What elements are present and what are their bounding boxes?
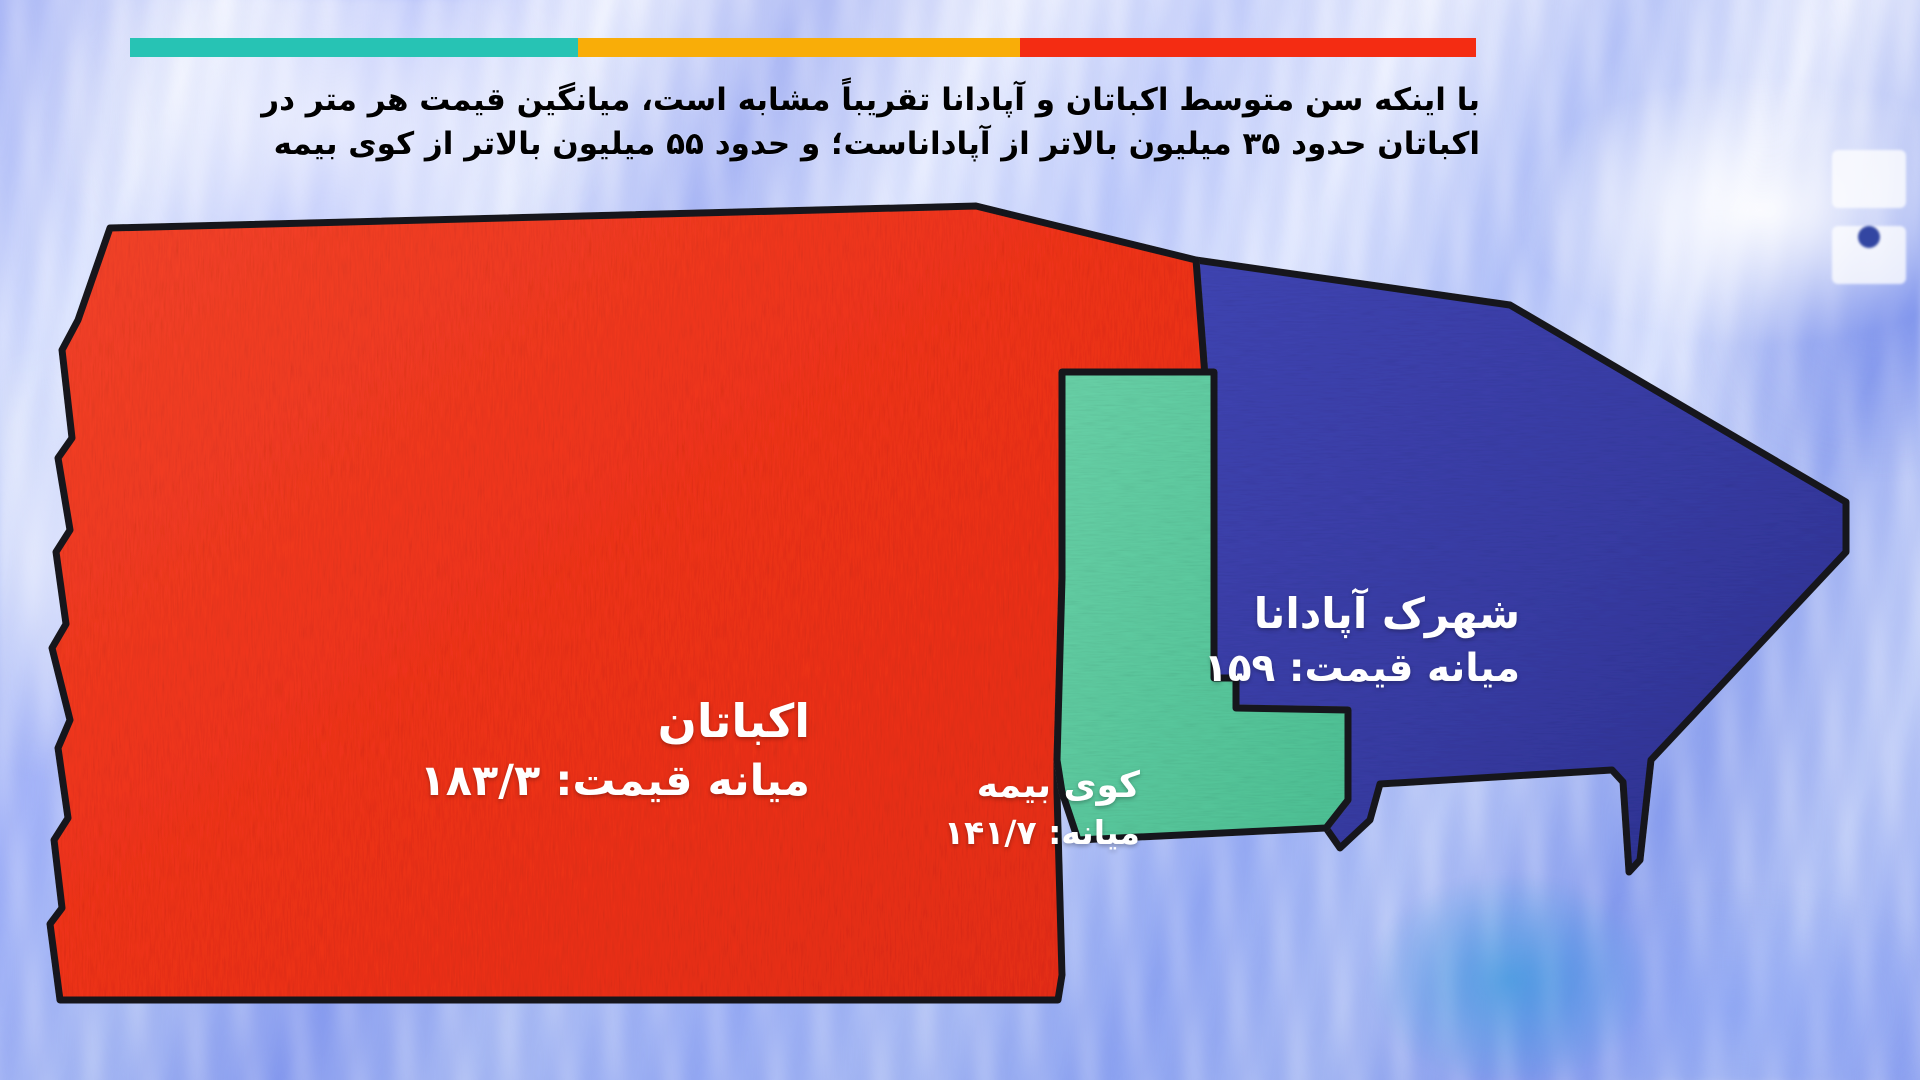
region-name-apadana: شهرک آپادانا [1204,590,1520,639]
region-label-ekbatan: اکباتان میانه قیمت: ۱۸۳/۳ [420,695,810,808]
region-value-apadana: میانه قیمت: ۱۵۹ [1204,646,1520,693]
region-name-ekbatan: اکباتان [420,695,810,748]
map-svg [0,200,1920,1080]
accent-segment-amber [578,38,1019,57]
choropleth-map: اکباتان میانه قیمت: ۱۸۳/۳ کوی بیمه میانه… [0,200,1920,1080]
region-label-apadana: شهرک آپادانا میانه قیمت: ۱۵۹ [1204,590,1520,693]
headline-line-2: اکباتان حدود ۳۵ میلیون بالاتر از آپادانا… [130,122,1480,166]
accent-segment-red [1020,38,1476,57]
accent-bar [130,38,1476,57]
headline-line-1: با اینکه سن متوسط اکباتان و آپادانا تقری… [130,78,1480,122]
accent-segment-teal [130,38,578,57]
region-value-koy-e-bimeh: میانه: ۱۴۱/۷ [944,813,1140,853]
region-label-koy-e-bimeh: کوی بیمه میانه: ۱۴۱/۷ [944,765,1140,852]
headline: با اینکه سن متوسط اکباتان و آپادانا تقری… [130,78,1480,166]
map-region-ekbatan[interactable] [50,206,1214,1000]
region-name-koy-e-bimeh: کوی بیمه [944,765,1140,807]
region-value-ekbatan: میانه قیمت: ۱۸۳/۳ [420,756,810,808]
infographic-canvas: با اینکه سن متوسط اکباتان و آپادانا تقری… [0,0,1920,1080]
